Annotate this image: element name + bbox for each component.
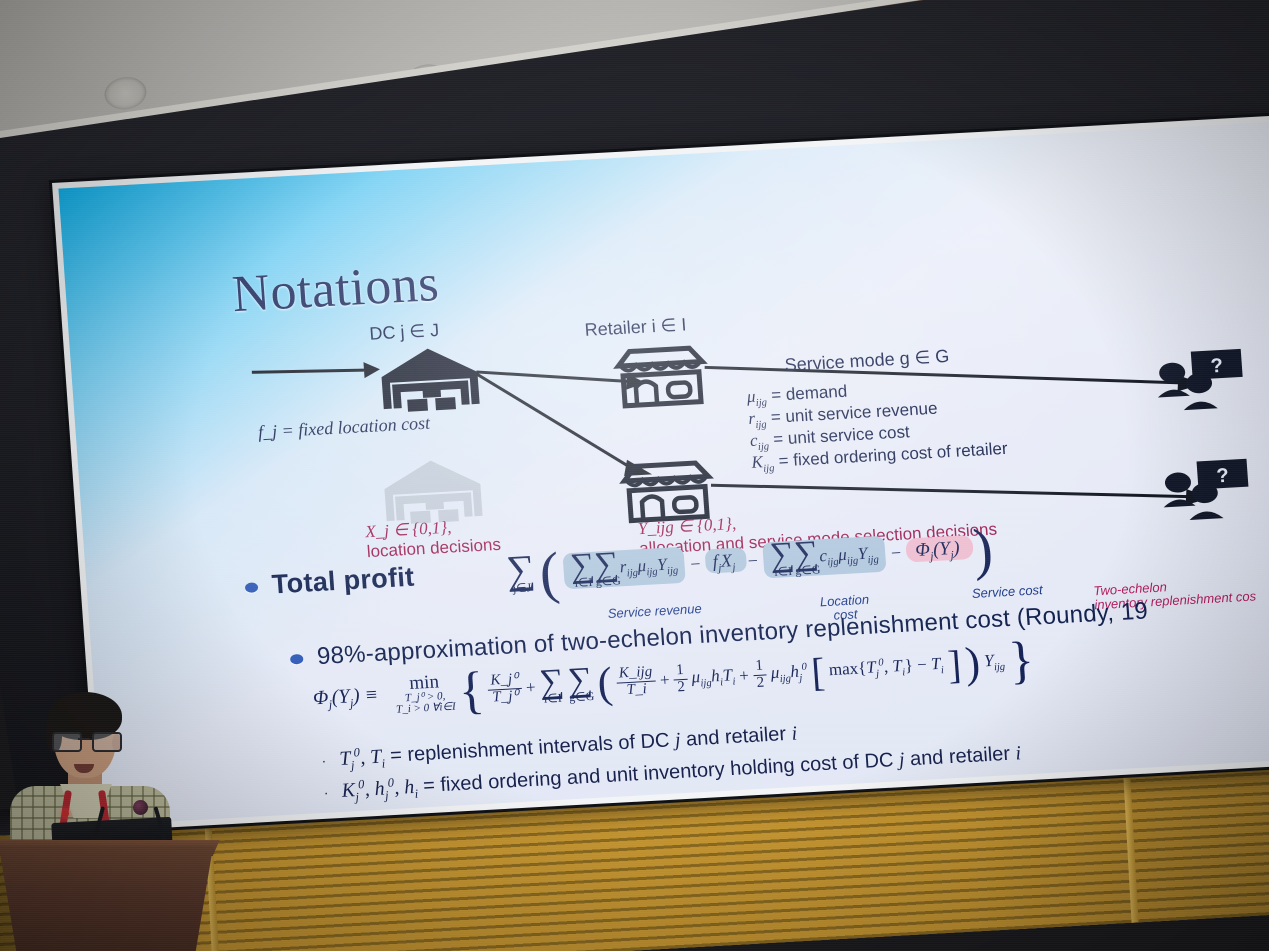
plus-2: + bbox=[659, 670, 670, 689]
phi-sum-i: ∑i∈I bbox=[539, 670, 565, 703]
retailer-label: Retailer i ∈ I bbox=[584, 314, 687, 341]
bullet-dot-2 bbox=[290, 654, 304, 665]
svg-text:?: ? bbox=[1216, 465, 1230, 488]
one-half-2: 12 bbox=[752, 659, 768, 692]
podium: SCIENCE bbox=[0, 846, 220, 951]
bullet-total-profit: Total profit bbox=[244, 562, 416, 602]
bracket-open: [ bbox=[811, 660, 826, 685]
caption-service-cost: Service cost bbox=[937, 581, 1078, 602]
outer-sum-subscript: j∈J bbox=[507, 583, 536, 593]
bracket-close: ] bbox=[947, 652, 962, 677]
presentation-slide: Notations DC j ∈ J bbox=[58, 121, 1269, 825]
brace-open: { bbox=[458, 677, 485, 704]
frac-K0-over-T0: K_j⁰ T_j⁰ bbox=[487, 672, 523, 706]
frac-Kijg-over-Ti: K_ijg T_i bbox=[615, 665, 657, 700]
glasses-bridge bbox=[78, 738, 90, 740]
slide-title: Notations bbox=[230, 254, 441, 324]
rev-sum-sub-g: g∈G bbox=[595, 576, 621, 586]
plus-1: + bbox=[525, 678, 536, 697]
customers-question-icon-1: ? bbox=[1153, 349, 1247, 416]
photo-scene: Notations DC j ∈ J bbox=[0, 0, 1269, 951]
microphone-head-right bbox=[133, 800, 148, 815]
glasses-lens-right bbox=[92, 732, 122, 752]
bullet-label-total-profit: Total profit bbox=[271, 562, 416, 601]
cost-sum-sub-g: g∈G bbox=[795, 565, 821, 575]
minus-1: − bbox=[689, 554, 703, 575]
minus-2: − bbox=[746, 550, 760, 571]
microphone-indicator-left bbox=[62, 810, 69, 817]
store-icon-1 bbox=[611, 343, 711, 410]
open-paren: ( bbox=[539, 557, 560, 587]
cost-sum-sub-i: i∈I bbox=[771, 567, 796, 577]
term-phi: Φj(Yj) bbox=[905, 535, 973, 563]
min-operator: min T_j⁰ > 0, T_i > 0 ∀i∈I bbox=[394, 672, 457, 716]
warehouse-ghost-icon bbox=[378, 454, 487, 526]
term-location-cost: fjXj bbox=[705, 548, 747, 574]
term-mu-h-T: μijghiTi bbox=[691, 665, 736, 686]
one-half-1: 12 bbox=[673, 663, 689, 696]
phi-sum-g: ∑g∈G bbox=[567, 668, 594, 701]
dc-cost-label: f_j = fixed location cost bbox=[257, 413, 430, 443]
term-service-revenue: ∑i∈I∑g∈GrijgμijgYijg bbox=[562, 547, 686, 590]
close-paren: ) bbox=[972, 534, 993, 564]
bullet-dot-1 bbox=[245, 582, 259, 593]
phi-tail: Yijg bbox=[983, 651, 1005, 671]
glasses-lens-left bbox=[52, 732, 82, 752]
customers-question-icon-2: ? bbox=[1159, 459, 1253, 526]
dc-label: DC j ∈ J bbox=[369, 320, 440, 345]
arrow-inbound-icon bbox=[251, 357, 382, 384]
phi-open-paren: ( bbox=[597, 670, 613, 697]
max-expression: max{Tj0, Ti} − Ti bbox=[828, 654, 944, 679]
speaker-glasses bbox=[52, 732, 120, 748]
phi-lhs: Φj(Yj) ≡ bbox=[312, 683, 379, 709]
rev-sum-sub-i: i∈I bbox=[571, 578, 596, 588]
projection-screen: Notations DC j ∈ J bbox=[52, 115, 1269, 832]
slat-post-2 bbox=[1123, 773, 1138, 923]
brace-close: } bbox=[1008, 647, 1035, 674]
outer-sum-symbol: ∑j∈J bbox=[506, 555, 537, 593]
term-mu-h0: μijghj0 bbox=[770, 662, 808, 683]
phi-close-paren: ) bbox=[964, 650, 980, 677]
warehouse-icon bbox=[375, 342, 484, 414]
plus-3: + bbox=[739, 666, 750, 685]
svg-text:?: ? bbox=[1210, 355, 1224, 378]
minus-3: − bbox=[889, 543, 903, 564]
term-service-cost: ∑i∈I∑g∈GcijgμijgYijg bbox=[762, 536, 887, 579]
caption-service-revenue: Service revenue bbox=[559, 599, 750, 623]
